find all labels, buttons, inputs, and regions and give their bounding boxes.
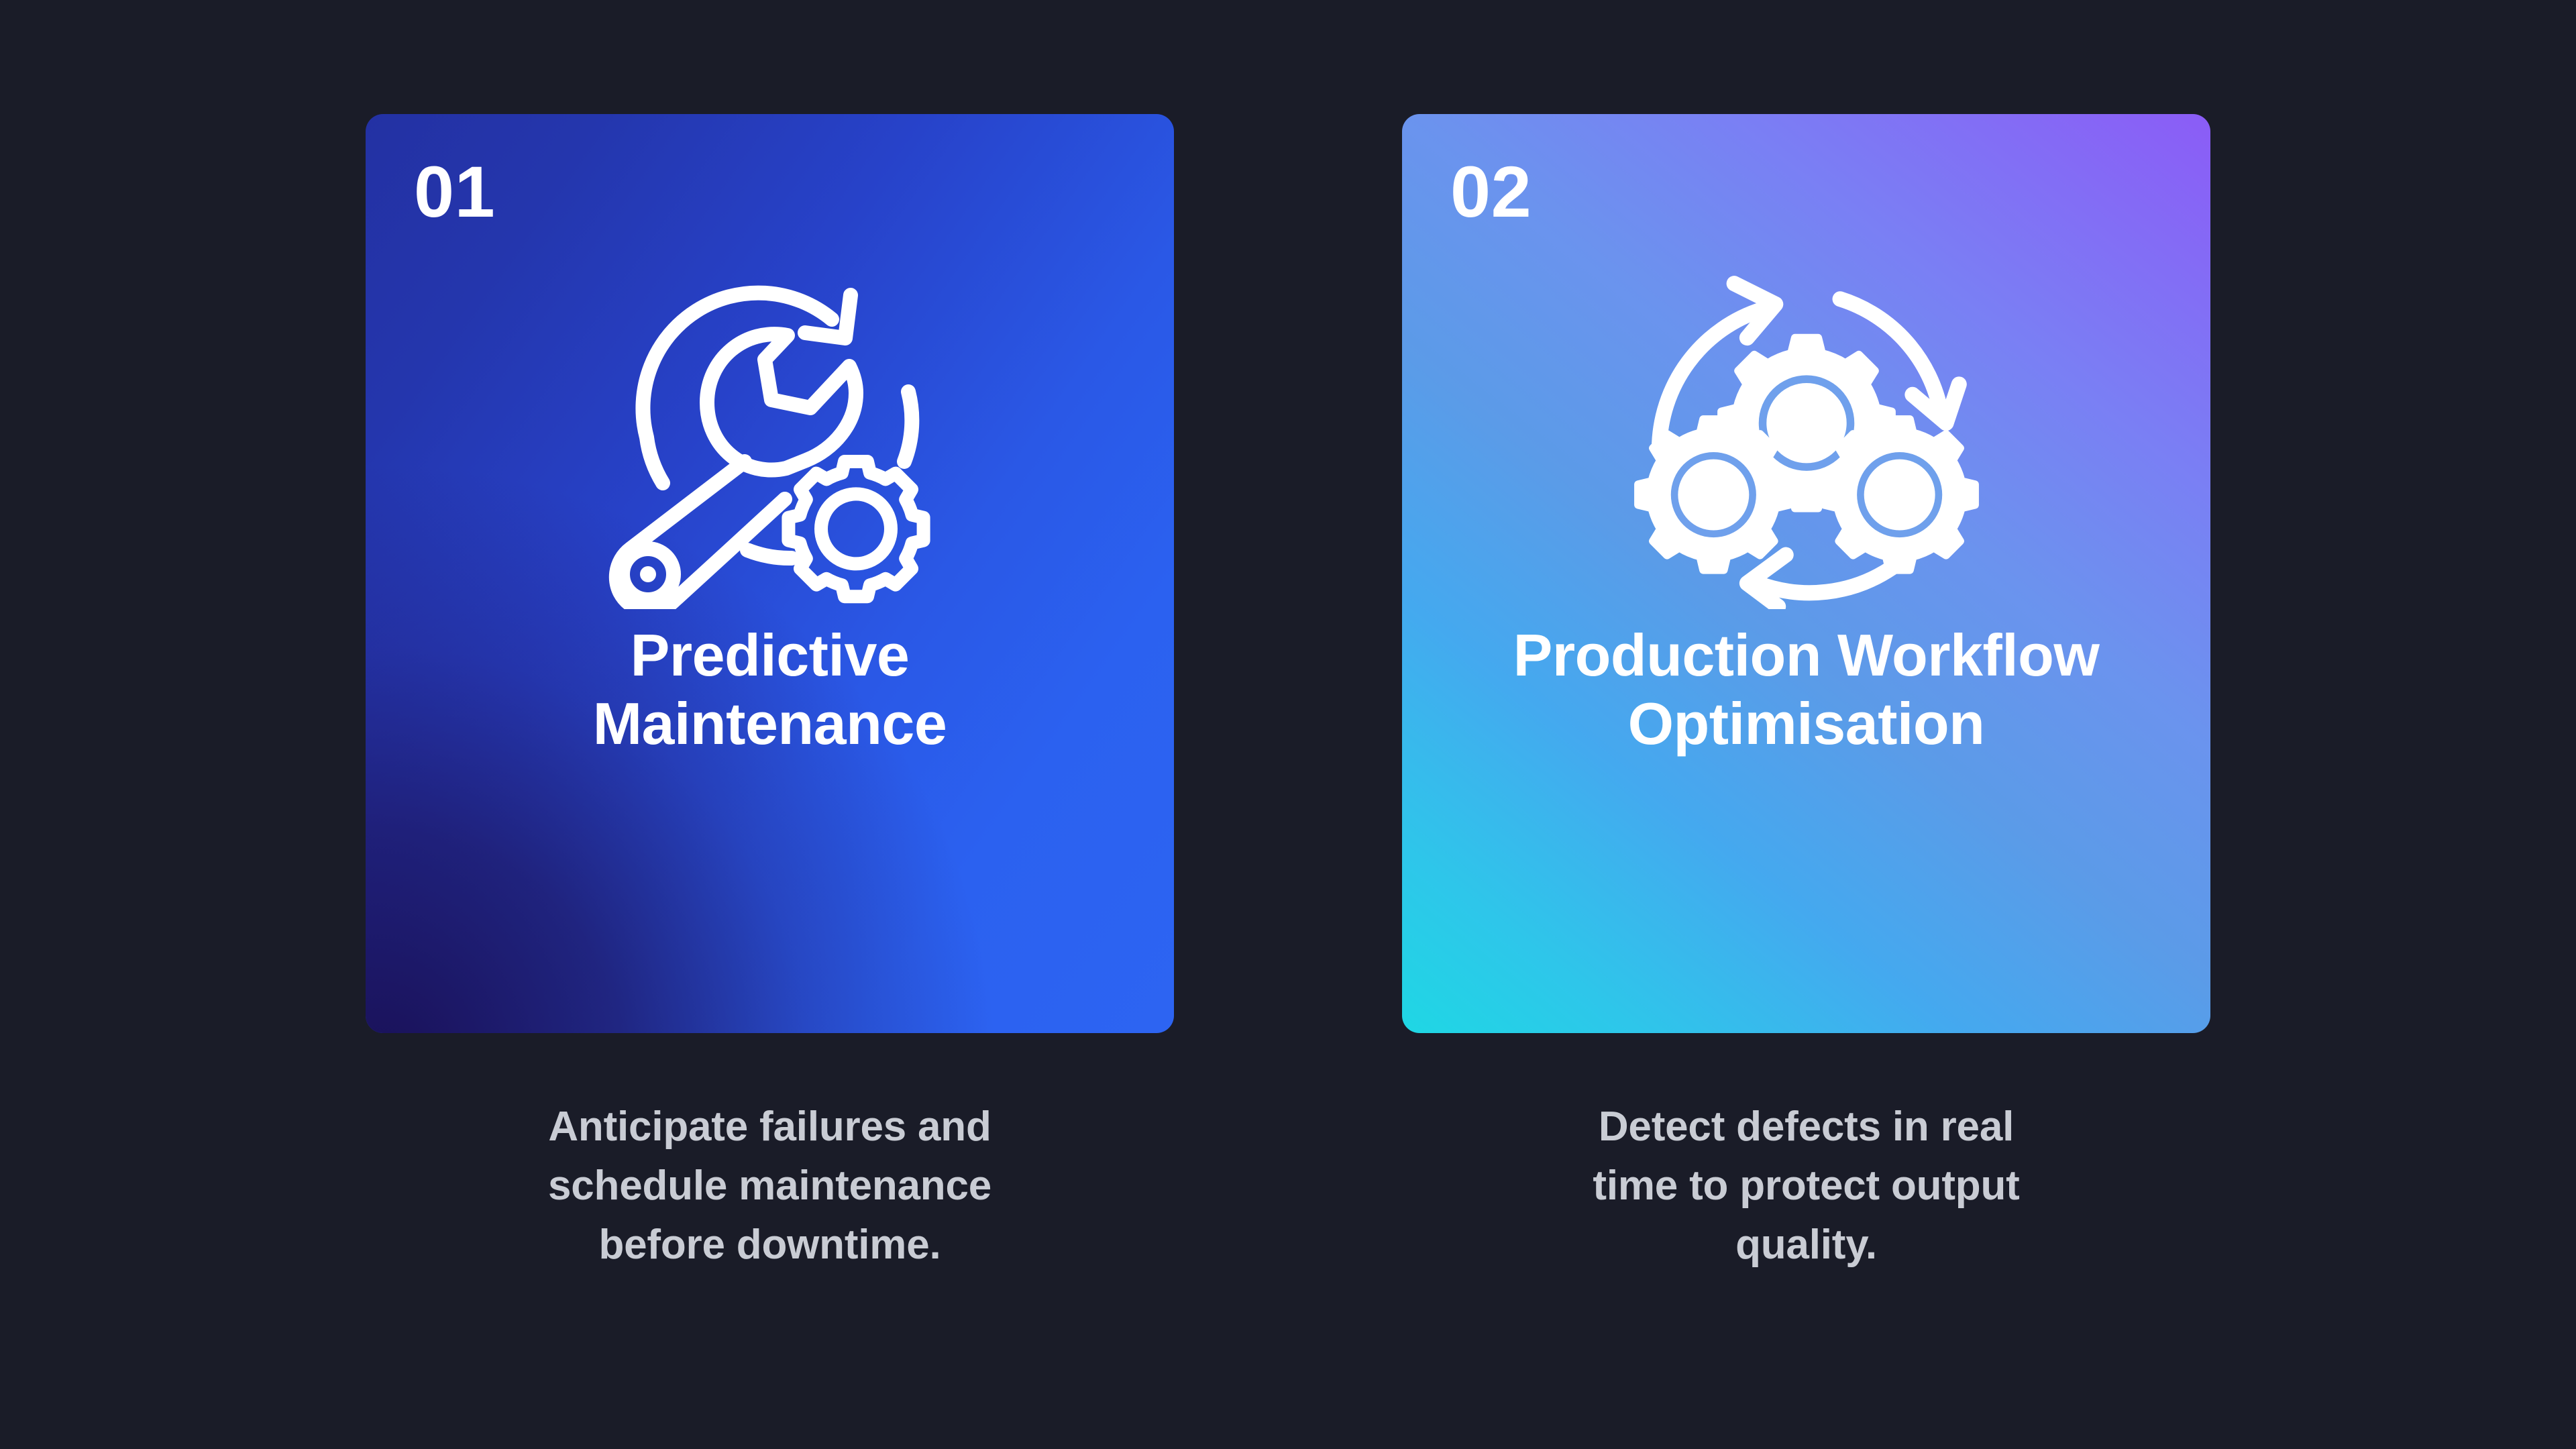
feature-column-1: 01 [366,114,1174,1275]
card-number-badge: 02 [1450,156,1532,228]
card-title-line-2: Optimisation [1628,690,1985,757]
card-caption: Anticipate failures and schedule mainten… [431,1097,1109,1275]
card-caption-line-3: quality. [1735,1222,1877,1268]
card-title: Predictive Maintenance [394,621,1146,758]
card-caption-line-1: Detect defects in real [1599,1104,2014,1150]
feature-card-predictive-maintenance[interactable]: 01 [366,114,1174,1033]
card-caption: Detect defects in real time to protect o… [1468,1097,2145,1275]
card-title-line-2: Maintenance [593,690,947,757]
slide-canvas: 01 [0,0,2576,1449]
three-gears-cycle-icon [1599,260,2015,609]
card-caption-line-2: time to protect output [1593,1163,2019,1209]
card-caption-line-3: before downtime. [598,1222,941,1268]
card-title-line-1: Production Workflow [1513,622,2100,688]
card-number-badge: 01 [414,156,495,228]
card-title-line-1: Predictive [631,622,910,688]
feature-card-production-workflow-optimisation[interactable]: 02 [1402,114,2210,1033]
card-content: Predictive Maintenance [366,114,1174,1033]
card-title: Production Workflow Optimisation [1431,621,2182,758]
cards-row: 01 [0,0,2576,1449]
wrench-gear-refresh-icon [562,260,978,609]
card-caption-line-2: schedule maintenance [548,1163,991,1209]
card-caption-line-1: Anticipate failures and [548,1104,991,1150]
card-content: Production Workflow Optimisation [1402,114,2210,1033]
feature-column-2: 02 [1402,114,2210,1275]
